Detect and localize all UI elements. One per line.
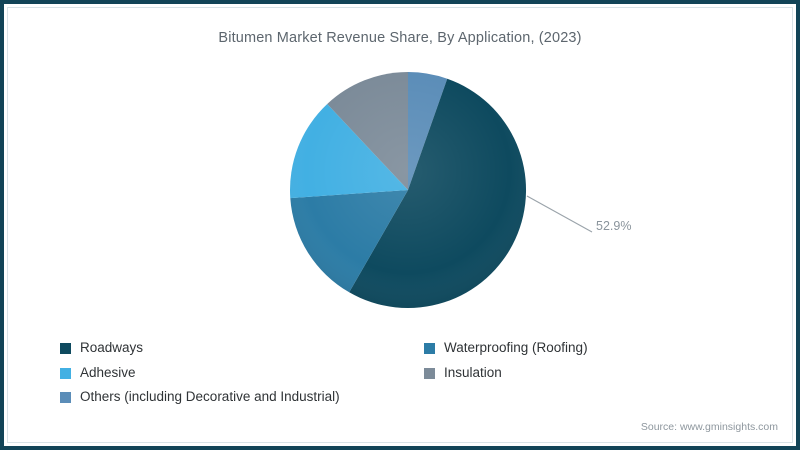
legend-item-label: Waterproofing (Roofing) bbox=[444, 341, 588, 355]
pie-shading-overlay bbox=[290, 72, 526, 308]
source-attribution: Source: www.gminsights.com bbox=[641, 421, 778, 433]
legend-row: Others (including Decorative and Industr… bbox=[60, 390, 700, 404]
legend-swatch-icon bbox=[60, 343, 71, 354]
legend-swatch-icon bbox=[424, 343, 435, 354]
legend-item-label: Adhesive bbox=[80, 366, 136, 380]
legend-swatch-icon bbox=[60, 392, 71, 403]
chart-legend: Roadways Waterproofing (Roofing) Adhesiv… bbox=[60, 341, 700, 415]
callout-leader-line bbox=[527, 196, 592, 232]
legend-item-label: Roadways bbox=[80, 341, 143, 355]
chart-canvas: Bitumen Market Revenue Share, By Applica… bbox=[0, 0, 800, 450]
legend-item-adhesive[interactable]: Adhesive bbox=[60, 366, 424, 380]
legend-item-roadways[interactable]: Roadways bbox=[60, 341, 424, 355]
legend-item-insulation[interactable]: Insulation bbox=[424, 366, 700, 380]
legend-item-waterproofing[interactable]: Waterproofing (Roofing) bbox=[424, 341, 700, 355]
legend-item-label: Others (including Decorative and Industr… bbox=[80, 390, 340, 404]
pie-chart-svg bbox=[0, 0, 800, 330]
pie-percentage-label: 52.9% bbox=[596, 219, 631, 233]
legend-row: Roadways Waterproofing (Roofing) bbox=[60, 341, 700, 355]
legend-swatch-icon bbox=[60, 368, 71, 379]
legend-item-label: Insulation bbox=[444, 366, 502, 380]
legend-row: Adhesive Insulation bbox=[60, 366, 700, 380]
legend-swatch-icon bbox=[424, 368, 435, 379]
legend-item-others[interactable]: Others (including Decorative and Industr… bbox=[60, 390, 700, 404]
pie-chart-area: 52.9% bbox=[0, 0, 800, 330]
